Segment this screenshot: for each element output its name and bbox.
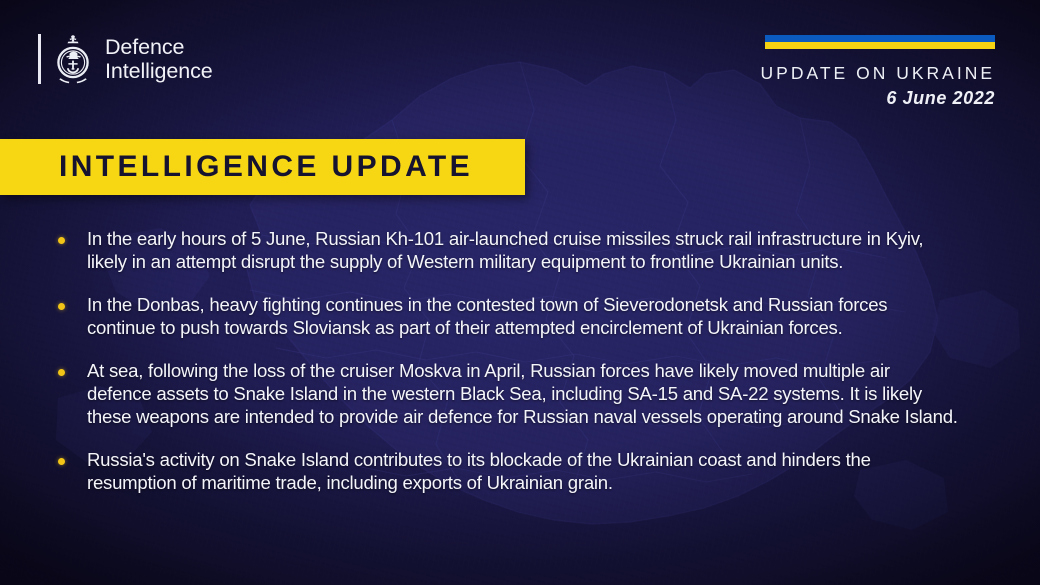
update-date: 6 June 2022 (761, 88, 995, 109)
bullet-dot-icon (58, 237, 65, 244)
list-item: In the Donbas, heavy fighting continues … (58, 294, 958, 339)
update-title: UPDATE ON UKRAINE (761, 63, 995, 84)
intelligence-update-slide: Defence Intelligence UPDATE ON UKRAINE 6… (0, 0, 1040, 585)
bullet-text: In the early hours of 5 June, Russian Kh… (87, 228, 958, 273)
list-item: At sea, following the loss of the cruise… (58, 360, 958, 428)
update-header-block: UPDATE ON UKRAINE 6 June 2022 (761, 63, 995, 109)
logo-wordmark: Defence Intelligence (105, 35, 213, 84)
bullet-list: In the early hours of 5 June, Russian Kh… (58, 228, 958, 494)
royal-crest-icon (52, 34, 94, 84)
list-item: In the early hours of 5 June, Russian Kh… (58, 228, 958, 273)
bullet-dot-icon (58, 458, 65, 465)
bullet-text: Russia's activity on Snake Island contri… (87, 449, 958, 494)
intelligence-update-banner: INTELLIGENCE UPDATE (0, 139, 525, 195)
ukraine-flag-bar (765, 35, 995, 49)
bullet-dot-icon (58, 303, 65, 310)
bullet-dot-icon (58, 369, 65, 376)
bullet-text: At sea, following the loss of the cruise… (87, 360, 958, 428)
flag-yellow-stripe (765, 42, 995, 49)
list-item: Russia's activity on Snake Island contri… (58, 449, 958, 494)
flag-blue-stripe (765, 35, 995, 42)
logo-line-defence: Defence (105, 35, 213, 60)
logo-line-intelligence: Intelligence (105, 59, 213, 84)
banner-title: INTELLIGENCE UPDATE (59, 150, 473, 184)
defence-intelligence-logo: Defence Intelligence (38, 31, 213, 87)
bullet-text: In the Donbas, heavy fighting continues … (87, 294, 958, 339)
logo-divider-rule (38, 34, 41, 84)
